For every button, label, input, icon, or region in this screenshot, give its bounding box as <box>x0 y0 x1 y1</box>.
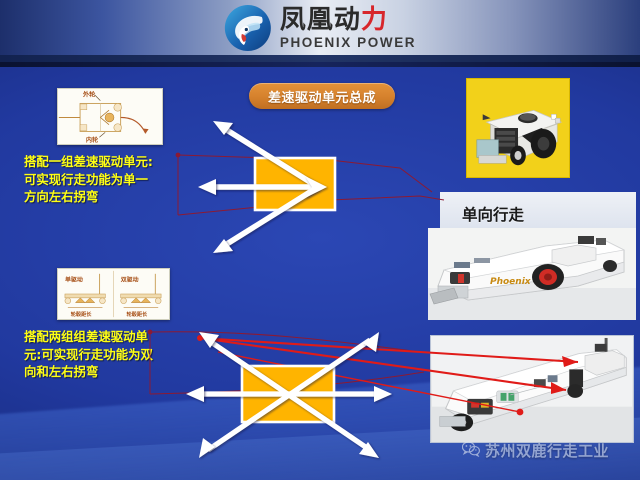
slide-title-badge: 差速驱动单元总成 <box>249 83 395 109</box>
bidirectional-agv-photo <box>430 335 634 443</box>
caption-dual-drive: 搭配两组组差速驱动单 元:可实现行走功能为双 向和左右拐弯 <box>24 328 202 381</box>
logo-english-name: PHOENIX POWER <box>280 36 416 50</box>
drive-comparison-diagram: 单驱动 轮毂距长 双驱动 轮毂距长 <box>57 268 170 320</box>
svg-text:Phoenix: Phoenix <box>490 277 532 287</box>
schematic2-label-span-right: 轮毂距长 <box>126 310 148 318</box>
wechat-icon <box>462 441 480 461</box>
schematic1-label-inner: 内轮 <box>86 136 99 144</box>
differential-drive-unit-photo <box>466 78 570 178</box>
schematic2-label-single: 单驱动 <box>65 276 83 284</box>
agv-tugger-photo: Phoenix <box>428 228 636 320</box>
schematic2-label-span-left: 轮毂距长 <box>71 310 93 318</box>
phoenix-swirl-icon <box>224 4 272 52</box>
wechat-watermark: 苏州双鹿行走工业 <box>462 440 609 461</box>
schematic2-label-dual: 双驱动 <box>121 276 139 284</box>
logo-cn-prefix: 凤凰动 <box>280 5 361 35</box>
slide-header: 凤凰动力 PHOENIX POWER <box>0 0 640 62</box>
logo-chinese-name: 凤凰动力 <box>280 7 416 33</box>
watermark-text: 苏州双鹿行走工业 <box>485 440 609 461</box>
logo-cn-accent: 力 <box>361 5 388 35</box>
steering-geometry-diagram: 外轮 内轮 <box>57 88 163 145</box>
presentation-slide: 凤凰动力 PHOENIX POWER 差速驱动单元总成 <box>0 0 640 480</box>
oneway-travel-label: 单向行走 <box>462 203 524 225</box>
caption-single-drive: 搭配一组差速驱动单元: 可实现行走功能为单一 方向左右拐弯 <box>24 153 196 206</box>
brand-logo: 凤凰动力 PHOENIX POWER <box>224 4 416 52</box>
slide-title-text: 差速驱动单元总成 <box>268 87 376 106</box>
schematic1-label-outer: 外轮 <box>82 91 96 99</box>
